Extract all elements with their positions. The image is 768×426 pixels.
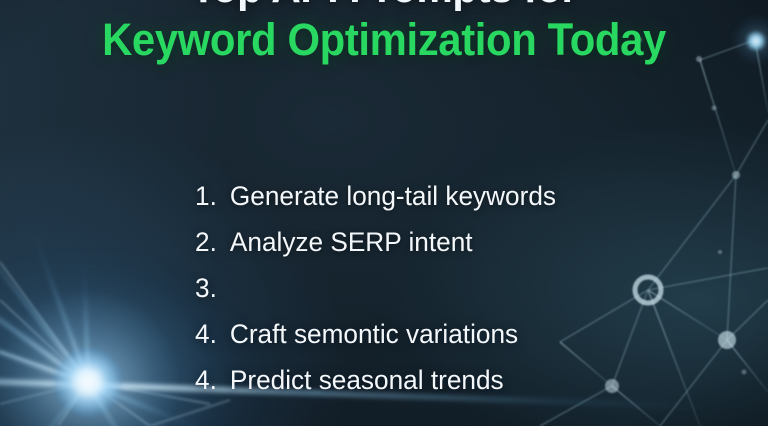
slide-heading: Top API Prompts for Keyword Optimization… [0,0,768,62]
slide-canvas: Top API Prompts for Keyword Optimization… [0,0,768,426]
list-item-number: 4. [195,357,220,403]
list-item-number: 2. [195,219,220,265]
list-item: 4. Craft semontic variations [195,311,699,357]
list-item: 2. Analyze SERP intent [195,219,699,265]
list-item-number: 4. [195,311,220,357]
page-title-line-2: Keyword Optimization Today [27,17,741,62]
list-item-label: Generate long-tail keywords [230,173,556,219]
list-item-label: Predict seasonal trends [230,357,504,403]
list-item: 4. Predict seasonal trends [195,357,699,403]
list-item: 3. [195,265,699,311]
list-item-number: 3. [195,265,220,311]
list-item-number: 1. [195,173,220,219]
page-title-line-1: Top API Prompts for [27,0,741,10]
prompt-list: 1. Generate long-tail keywords 2. Analyz… [195,173,715,403]
list-item: 1. Generate long-tail keywords [195,173,699,219]
list-item-label: Analyze SERP intent [230,219,473,265]
list-item-label: Craft semontic variations [230,311,518,357]
